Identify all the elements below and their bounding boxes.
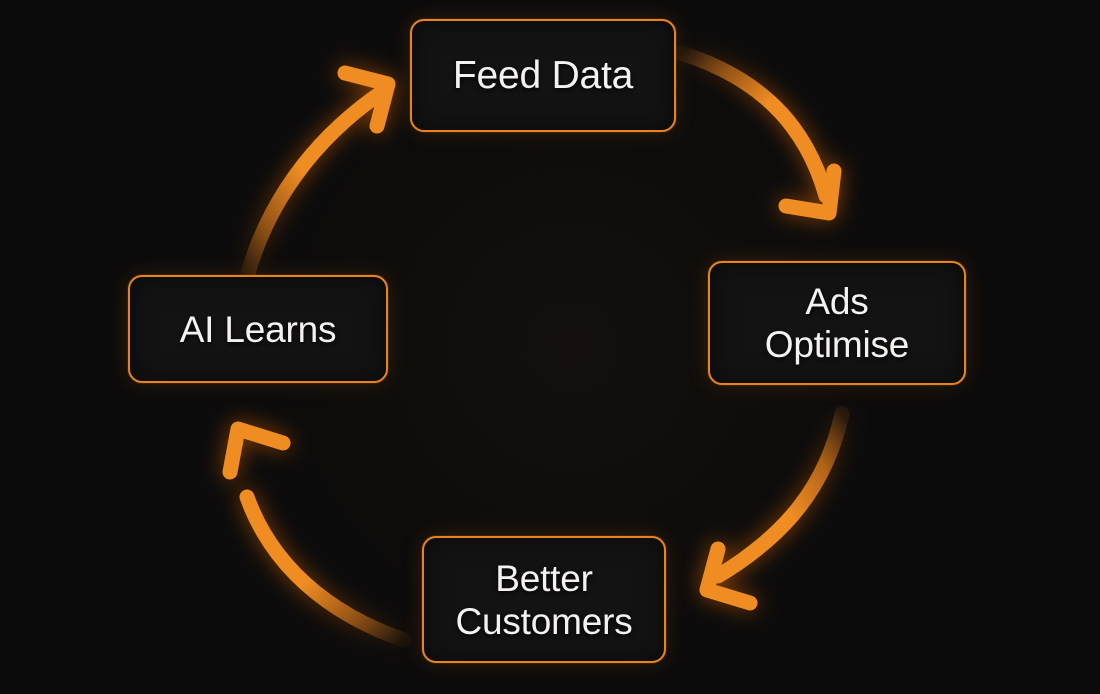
- node-feed-data[interactable]: Feed Data: [410, 19, 676, 132]
- node-ads-optimise-label: Ads Optimise: [765, 280, 909, 366]
- node-better-customers-label: Better Customers: [455, 557, 632, 643]
- node-ai-learns[interactable]: AI Learns: [128, 275, 388, 383]
- diagram-canvas: Feed Data Ads Optimise Better Customers …: [0, 0, 1100, 694]
- arrow-feed-data-to-ads-optimise: [681, 53, 834, 213]
- arrow-ai-learns-to-feed-data: [246, 73, 388, 280]
- node-better-customers[interactable]: Better Customers: [422, 536, 666, 663]
- node-ai-learns-label: AI Learns: [180, 308, 337, 351]
- node-feed-data-label: Feed Data: [453, 53, 633, 99]
- node-ads-optimise[interactable]: Ads Optimise: [708, 261, 966, 385]
- arrow-better-customers-to-ai-learns: [230, 429, 404, 640]
- arrow-ads-optimise-to-better-customers: [707, 414, 842, 603]
